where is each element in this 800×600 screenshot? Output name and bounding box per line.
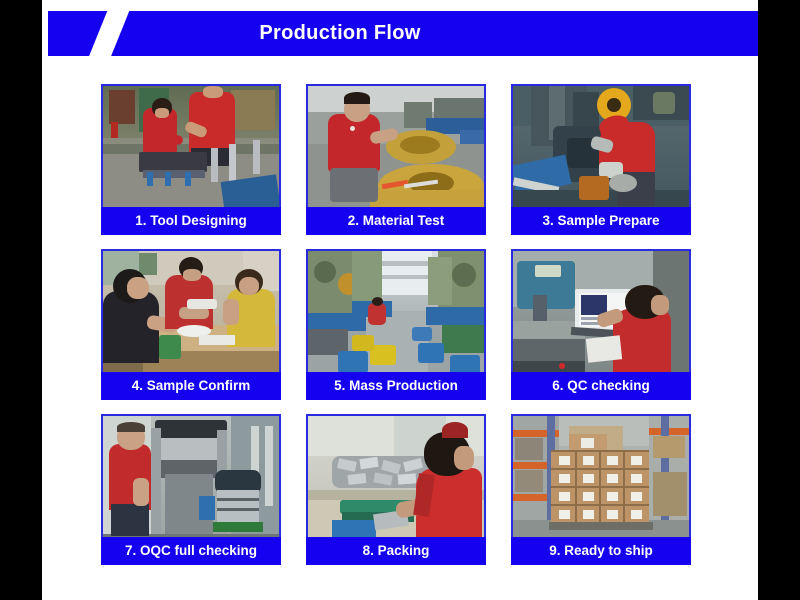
letterbox-left (0, 0, 42, 600)
step-caption-2: 2. Material Test (306, 207, 486, 235)
step-photo-4 (101, 249, 281, 384)
step-caption-5: 5. Mass Production (306, 372, 486, 400)
step-caption-8: 8. Packing (306, 537, 486, 565)
flow-step-7[interactable]: 7. OQC full checking (101, 414, 281, 549)
step-photo-6 (511, 249, 691, 384)
flow-step-1[interactable]: 1. Tool Designing (101, 84, 281, 219)
step-caption-1: 1. Tool Designing (101, 207, 281, 235)
flow-step-2[interactable]: 2. Material Test (306, 84, 486, 219)
flow-step-3[interactable]: 3. Sample Prepare (511, 84, 691, 219)
step-photo-8 (306, 414, 486, 549)
step-caption-7: 7. OQC full checking (101, 537, 281, 565)
header-banner: Production Flow (48, 11, 758, 56)
production-flow-grid: 1. Tool Designing (57, 84, 703, 564)
page-title: Production Flow (48, 11, 758, 56)
flow-step-4[interactable]: 4. Sample Confirm (101, 249, 281, 384)
letterbox-right (758, 0, 800, 600)
step-caption-3: 3. Sample Prepare (511, 207, 691, 235)
flow-step-9[interactable]: 9. Ready to ship (511, 414, 691, 549)
flow-step-8[interactable]: 8. Packing (306, 414, 486, 549)
flow-step-5[interactable]: 5. Mass Production (306, 249, 486, 384)
step-photo-7 (101, 414, 281, 549)
step-caption-4: 4. Sample Confirm (101, 372, 281, 400)
step-photo-2 (306, 84, 486, 219)
step-caption-9: 9. Ready to ship (511, 537, 691, 565)
slide-canvas: Production Flow (0, 0, 800, 600)
step-photo-3 (511, 84, 691, 219)
step-photo-9 (511, 414, 691, 549)
step-caption-6: 6. QC checking (511, 372, 691, 400)
step-photo-5 (306, 249, 486, 384)
step-photo-1 (101, 84, 281, 219)
flow-step-6[interactable]: 6. QC checking (511, 249, 691, 384)
